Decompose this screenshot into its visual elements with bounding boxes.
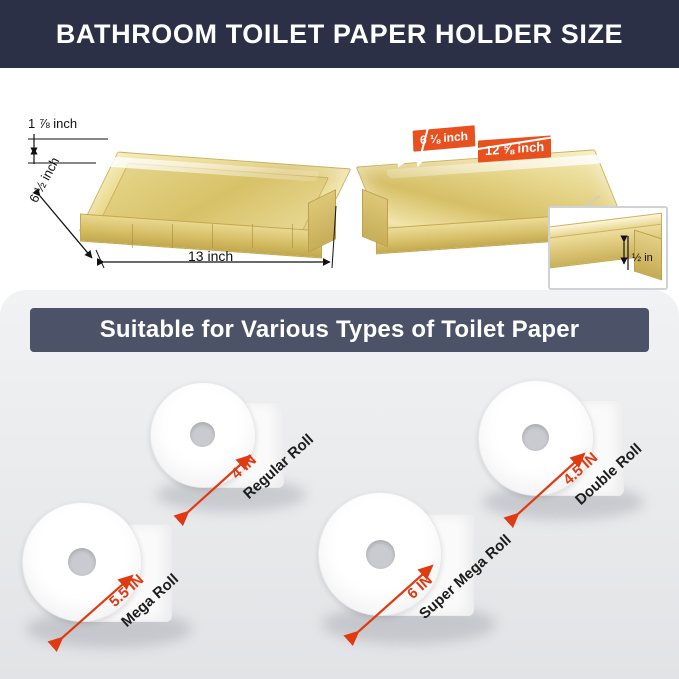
label-length: 13 inch <box>188 248 233 264</box>
page-title: BATHROOM TOILET PAPER HOLDER SIZE <box>56 19 623 50</box>
tray-left-illustration <box>72 160 344 284</box>
lip-detail-callout: ½ in <box>548 206 668 290</box>
tray-left-rib <box>212 224 213 248</box>
roll-types-section: Suitable for Various Types of Toilet Pap… <box>0 290 679 679</box>
roll-types-card: Suitable for Various Types of Toilet Pap… <box>0 290 679 679</box>
roll-measure-arrows <box>0 290 679 679</box>
tray-left-rib <box>172 224 173 248</box>
tray-right-side-face <box>362 189 388 248</box>
lip-detail-arrow <box>550 208 666 288</box>
tray-left-rib <box>132 224 133 248</box>
label-thickness: 1 ⅞ inch <box>28 116 77 131</box>
header-banner: BATHROOM TOILET PAPER HOLDER SIZE <box>0 0 679 68</box>
tray-left-rib <box>252 224 253 248</box>
infographic-page: BATHROOM TOILET PAPER HOLDER SIZE 6 ⅛ in… <box>0 0 679 679</box>
tray-left-rib <box>292 224 293 248</box>
